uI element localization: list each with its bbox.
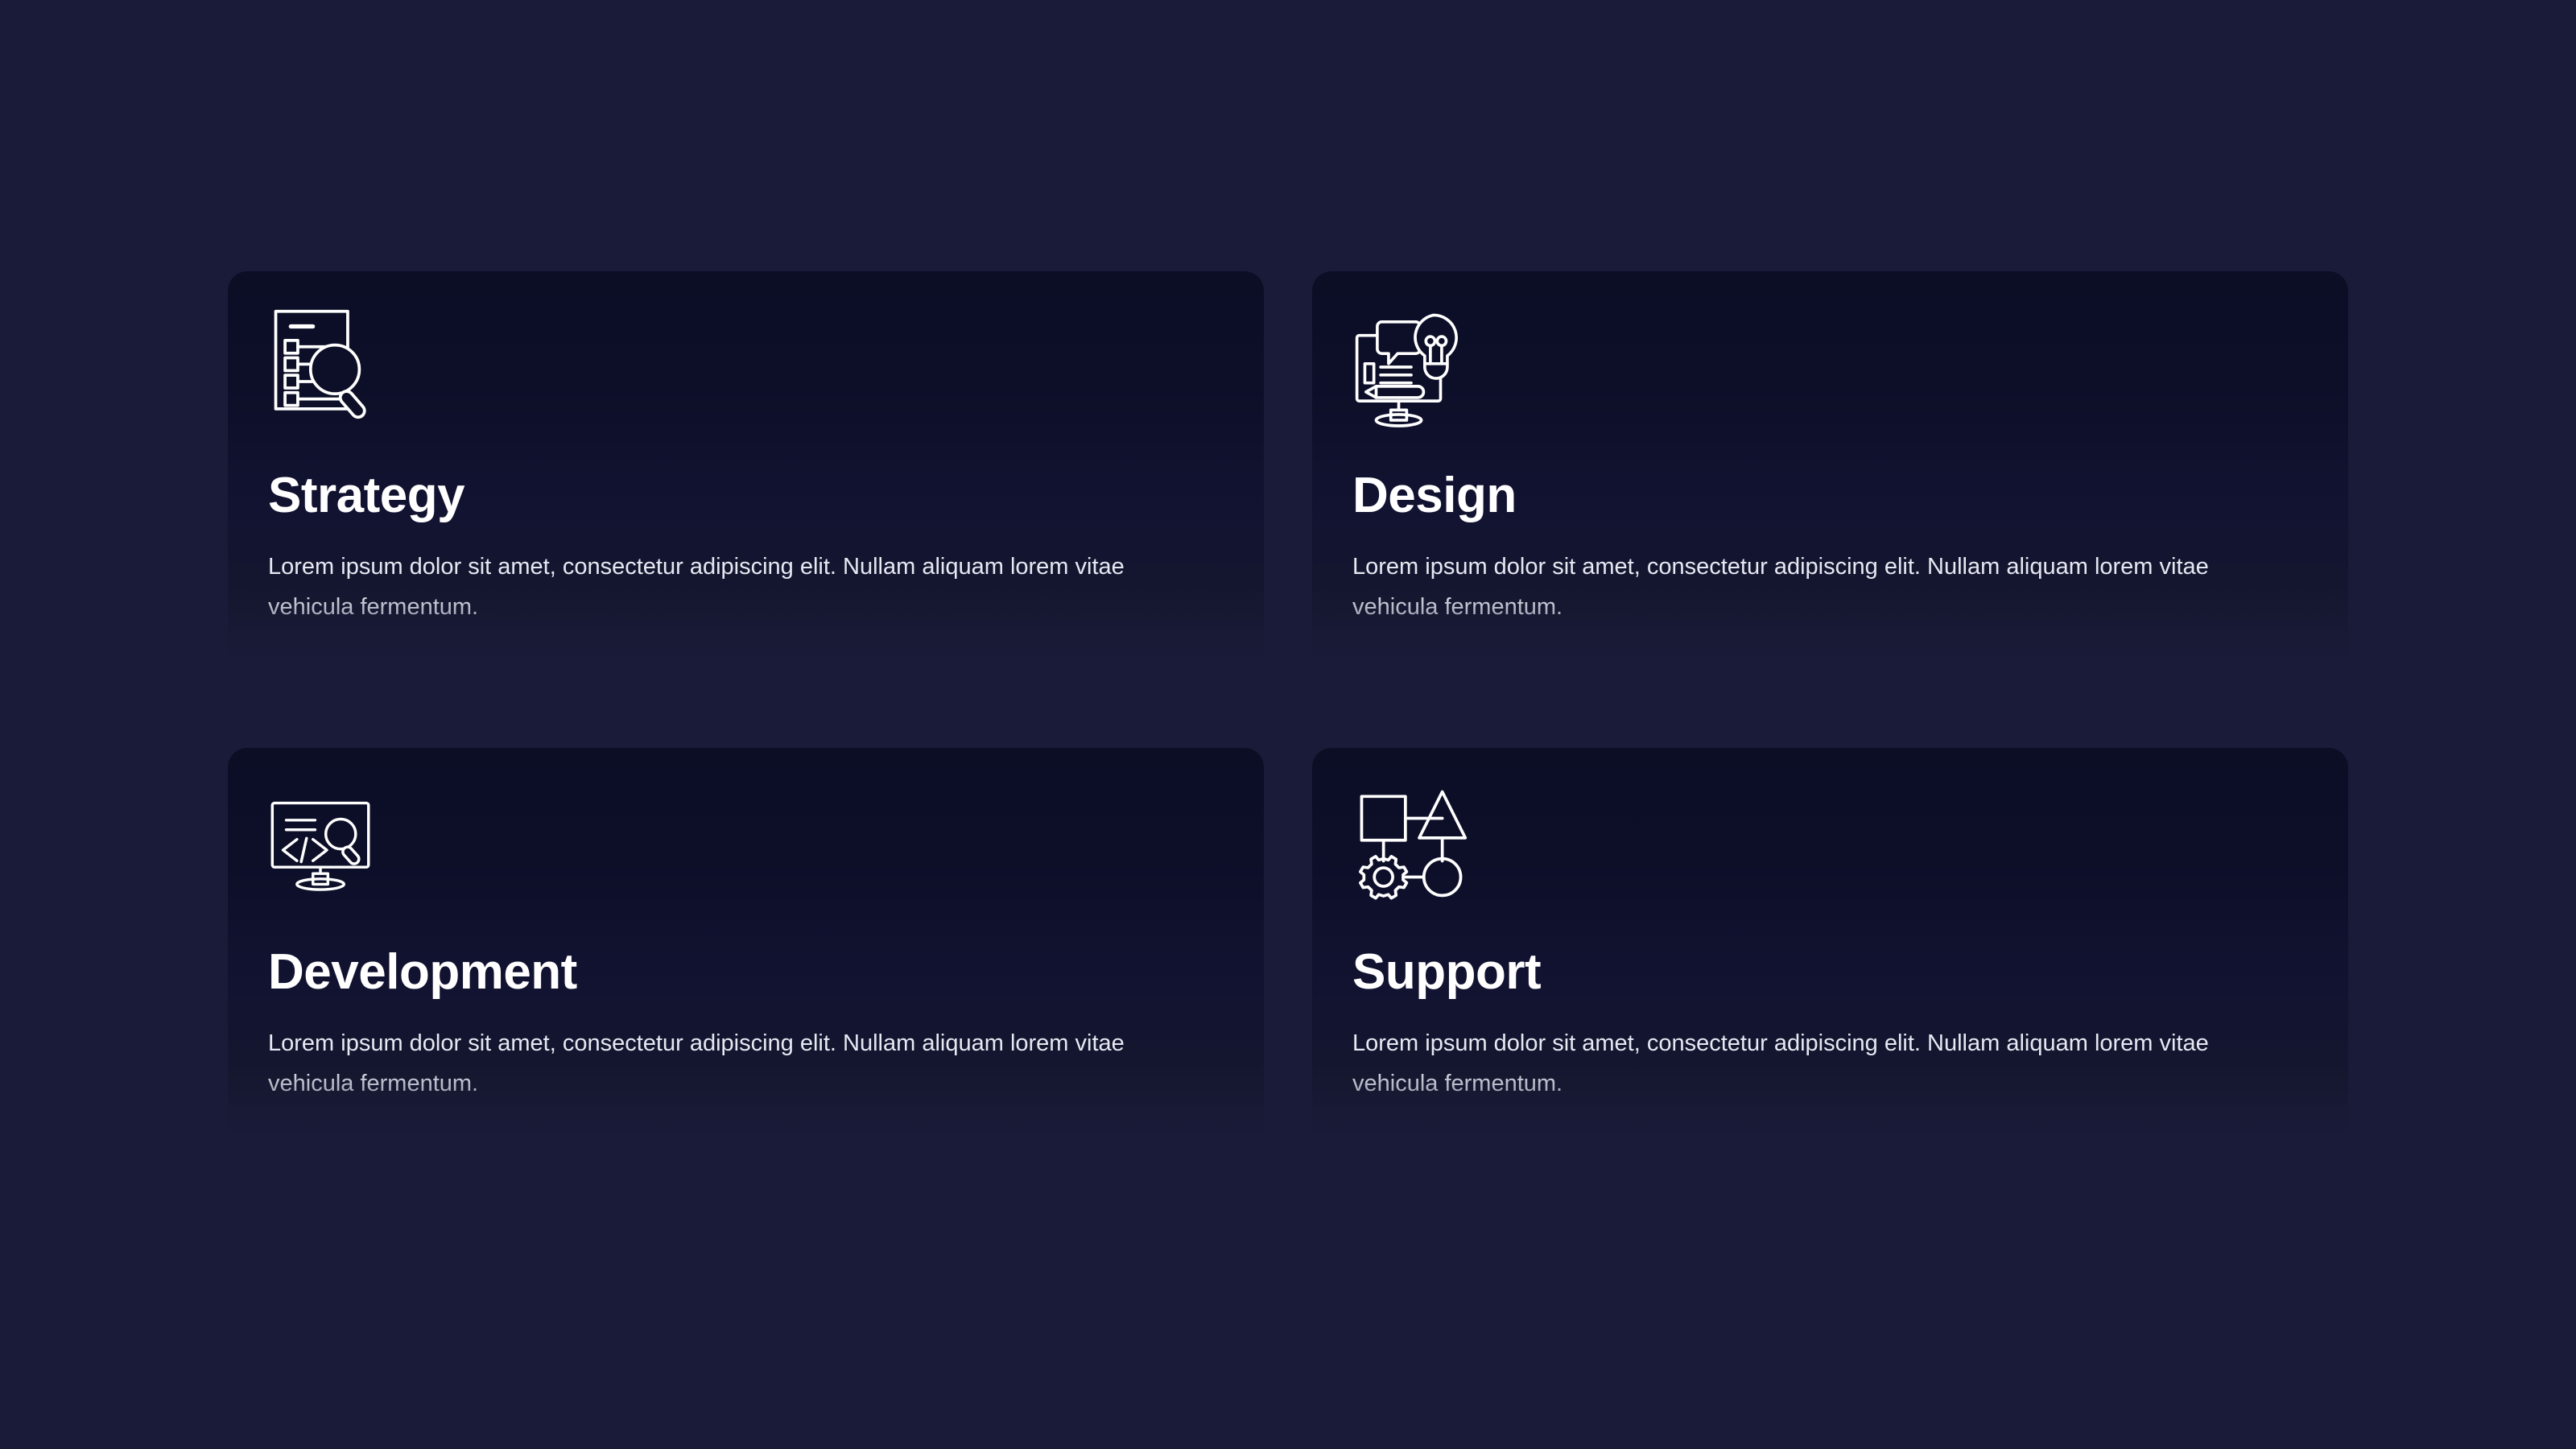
feature-card-strategy[interactable]: Strategy Lorem ipsum dolor sit amet, con… — [228, 271, 1264, 684]
monitor-lightbulb-design-icon — [1352, 307, 1470, 427]
feature-card-design[interactable]: Design Lorem ipsum dolor sit amet, conse… — [1312, 271, 2348, 684]
feature-card-support[interactable]: Support Lorem ipsum dolor sit amet, cons… — [1312, 748, 2348, 1161]
card-title: Strategy — [268, 469, 1264, 522]
page-root: Strategy Lorem ipsum dolor sit amet, con… — [0, 0, 2576, 1449]
card-description: Lorem ipsum dolor sit amet, consectetur … — [268, 1024, 1158, 1104]
card-title: Design — [1352, 469, 2348, 522]
feature-card-development[interactable]: Development Lorem ipsum dolor sit amet, … — [228, 748, 1264, 1161]
feature-card-grid: Strategy Lorem ipsum dolor sit amet, con… — [228, 271, 2348, 1161]
card-title: Development — [268, 946, 1264, 998]
card-description: Lorem ipsum dolor sit amet, consectetur … — [268, 547, 1158, 628]
card-description: Lorem ipsum dolor sit amet, consectetur … — [1352, 1024, 2242, 1104]
card-title: Support — [1352, 946, 2348, 998]
document-magnifier-icon — [268, 307, 386, 427]
monitor-code-magnifier-icon — [268, 783, 386, 904]
card-description: Lorem ipsum dolor sit amet, consectetur … — [1352, 547, 2242, 628]
workflow-diagram-gear-icon — [1352, 783, 1470, 904]
